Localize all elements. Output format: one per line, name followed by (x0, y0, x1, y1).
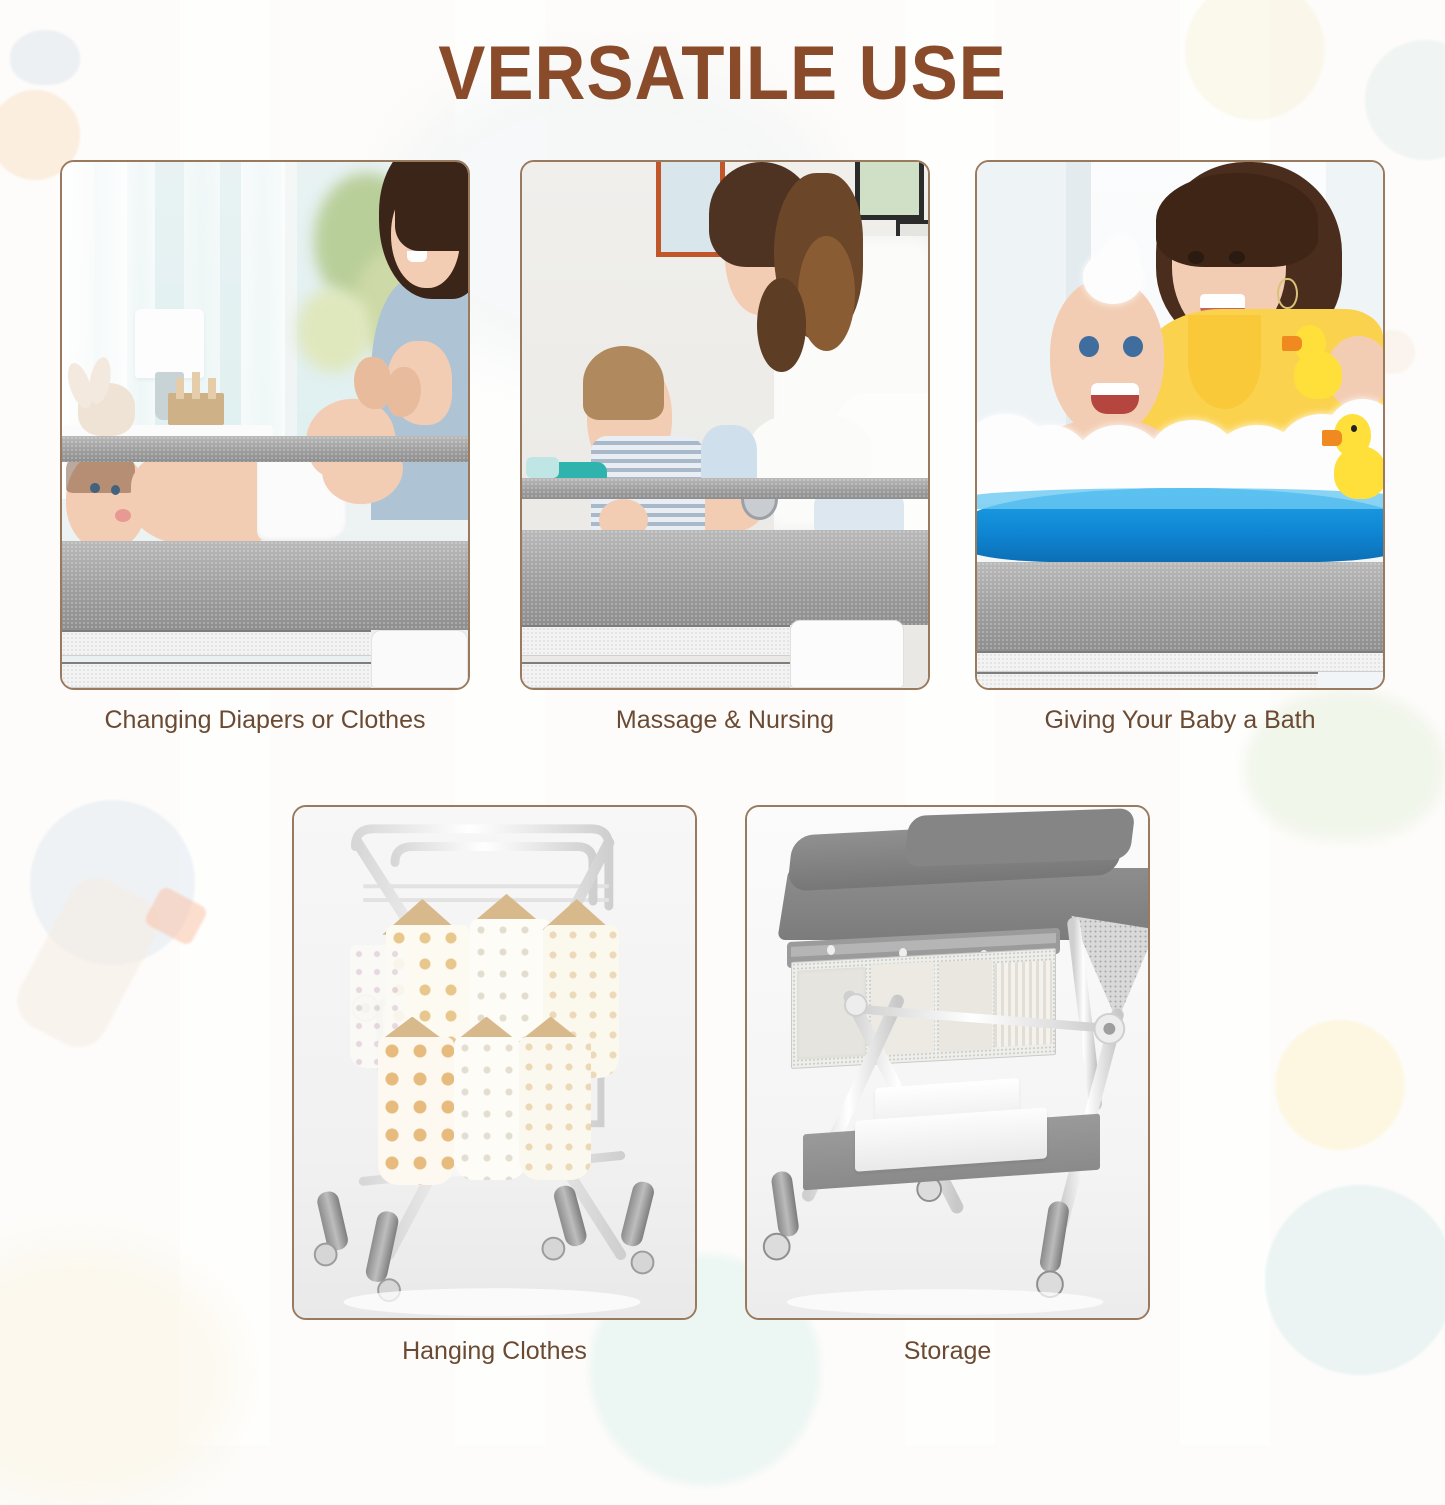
changing-pad-bolster (62, 436, 468, 462)
caption-massage: Massage & Nursing (480, 706, 970, 735)
feature-card-massage[interactable]: Massage & Nursing (520, 160, 930, 690)
caption-changing: Changing Diapers or Clothes (20, 706, 510, 735)
mesh-storage-rail-lower (62, 662, 371, 688)
mesh-storage-rail-upper (62, 630, 371, 656)
scene-drying-rack (294, 807, 695, 1318)
photo-changing-diapers (60, 160, 470, 690)
photo-baby-bath (975, 160, 1385, 690)
scene-baby-in-bathtub (977, 162, 1383, 688)
changing-pad-front (62, 541, 468, 630)
caption-bath: Giving Your Baby a Bath (935, 706, 1425, 735)
photo-hanging-clothes (292, 805, 697, 1320)
wall-frame-black (855, 160, 924, 220)
feature-card-changing[interactable]: Changing Diapers or Clothes (60, 160, 470, 690)
scene-baby-on-changing-pad (62, 162, 468, 688)
photo-massage-nursing (520, 160, 930, 690)
caption-storage: Storage (705, 1337, 1190, 1366)
page-title: VERSATILE USE (51, 30, 1395, 117)
feature-card-hanging[interactable]: Hanging Clothes (292, 805, 697, 1320)
photo-storage (745, 805, 1150, 1320)
feature-card-bath[interactable]: Giving Your Baby a Bath (975, 160, 1385, 690)
feature-card-storage[interactable]: Storage (745, 805, 1150, 1320)
wipes-container (790, 620, 904, 688)
caption-hanging: Hanging Clothes (252, 1337, 737, 1366)
mesh-storage-rail (522, 625, 790, 657)
earring (1277, 278, 1297, 310)
scene-changing-table-storage (747, 807, 1148, 1318)
infographic-page: VERSATILE USE (0, 0, 1445, 1445)
scene-mother-massaging-baby (522, 162, 928, 688)
